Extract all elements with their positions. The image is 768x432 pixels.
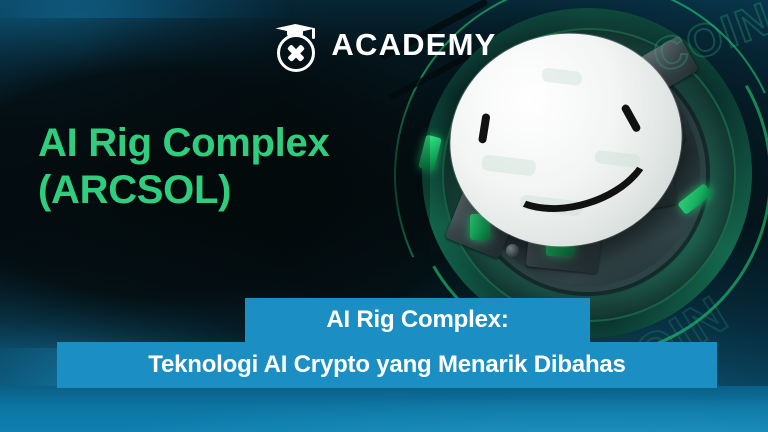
graduation-cap-circle-x-icon: [271, 22, 319, 66]
coin-facet-2: [541, 67, 582, 86]
green-headline: AI Rig Complex (ARCSOL): [38, 120, 408, 214]
academy-logo-text: ACADEMY: [331, 29, 496, 60]
rig-bolt-3: [506, 244, 519, 257]
coin-smile-tip-left: [478, 113, 491, 144]
title-banner-text-1: AI Rig Complex:: [326, 306, 508, 334]
title-banner-line-1: AI Rig Complex:: [245, 298, 590, 342]
thumbnail-canvas: COIN COIN ACADEMY AI Rig Complex (ARCSOL…: [0, 0, 768, 432]
cap-tassel-shape: [312, 28, 315, 39]
graduation-cap-icon: [275, 22, 315, 34]
bottom-teal-strip: [0, 386, 768, 432]
coin-smile-icon: [479, 81, 667, 230]
title-banner-text-2: Teknologi AI Crypto yang Menarik Dibahas: [148, 351, 625, 379]
academy-logo[interactable]: ACADEMY: [0, 22, 768, 66]
headline-line-2: (ARCSOL): [38, 167, 408, 214]
title-banner-line-2: Teknologi AI Crypto yang Menarik Dibahas: [57, 342, 717, 388]
headline-line-1: AI Rig Complex: [38, 121, 329, 165]
